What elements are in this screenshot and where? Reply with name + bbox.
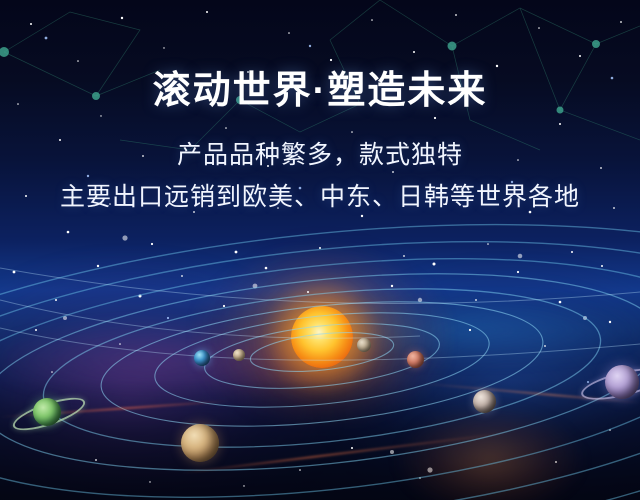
mars-planet: [407, 351, 424, 368]
banner-title: 滚动世界·塑造未来: [0, 70, 640, 114]
gray-planet: [473, 390, 496, 413]
green-ringed-planet: [33, 398, 61, 426]
banner-subtitle-line-1: 产品品种繁多，款式独特: [0, 136, 640, 175]
earth-planet: [194, 350, 210, 366]
banner-text-block: 滚动世界·塑造未来 产品品种繁多，款式独特 主要出口远销到欧美、中东、日韩等世界…: [0, 70, 640, 217]
mercury-planet: [357, 338, 371, 352]
tan-banded-planet: [181, 424, 219, 462]
small-moon: [233, 349, 245, 361]
banner-subtitle-line-2: 主要出口远销到欧美、中东、日韩等世界各地: [0, 178, 640, 217]
purple-ringed-planet: [605, 365, 639, 399]
space-hero-banner: 滚动世界·塑造未来 产品品种繁多，款式独特 主要出口远销到欧美、中东、日韩等世界…: [0, 0, 640, 500]
